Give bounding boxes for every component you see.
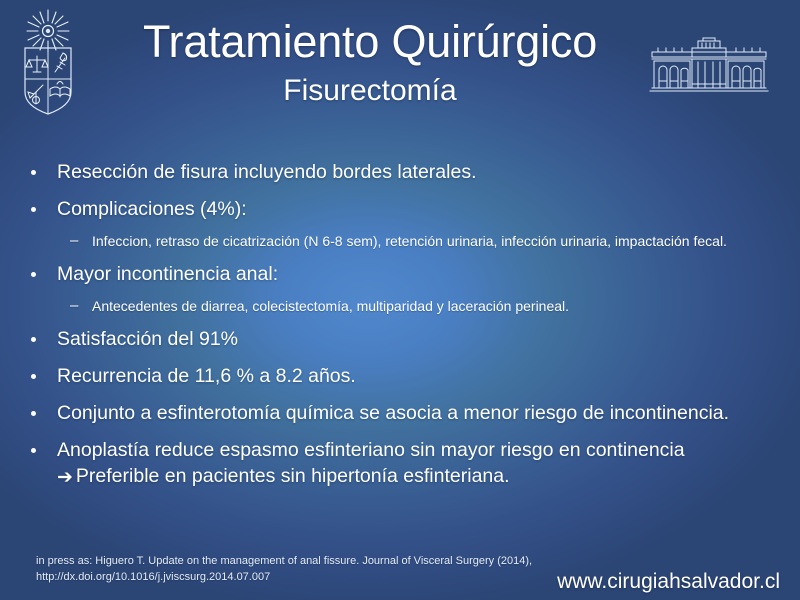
bullet-item: Recurrencia de 11,6 % a 8.2 años. bbox=[0, 364, 800, 389]
bullet-text: Complicaciones (4%): bbox=[57, 198, 247, 220]
sub-bullet-text: Infeccion, retraso de cicatrización (N 6… bbox=[92, 233, 727, 249]
slide-header: Tratamiento Quirúrgico Fisurectomía bbox=[0, 0, 800, 140]
bullet-item: Satisfacción del 91% bbox=[0, 327, 800, 352]
bullet-arrow-line: ➔Preferible en pacientes sin hipertonía … bbox=[57, 464, 760, 489]
hospital-building-facade-icon bbox=[648, 36, 770, 94]
bullet-item: Resección de fisura incluyendo bordes la… bbox=[0, 160, 800, 185]
sub-bullet-item: Antecedentes de diarrea, colecistectomía… bbox=[0, 297, 800, 316]
bullet-text: Resección de fisura incluyendo bordes la… bbox=[57, 161, 477, 183]
slide-subtitle: Fisurectomía bbox=[90, 71, 650, 111]
bullet-text: Mayor incontinencia anal: bbox=[57, 263, 278, 285]
bullet-text: Anoplastía reduce espasmo esfinteriano s… bbox=[57, 439, 685, 461]
slide-title-block: Tratamiento Quirúrgico Fisurectomía bbox=[90, 14, 650, 111]
citation-line-1: in press as: Higuero T. Update on the ma… bbox=[36, 553, 596, 569]
sub-bullet-item: Infeccion, retraso de cicatrización (N 6… bbox=[0, 232, 800, 251]
bullet-arrow-text: Preferible en pacientes sin hipertonía e… bbox=[76, 465, 510, 487]
citation-block: in press as: Higuero T. Update on the ma… bbox=[36, 553, 596, 585]
bullet-item: Conjunto a esfinterotomía química se aso… bbox=[0, 401, 800, 426]
sub-bullet-text: Antecedentes de diarrea, colecistectomía… bbox=[92, 298, 569, 314]
right-arrow-icon: ➔ bbox=[57, 465, 73, 490]
bullet-text: Recurrencia de 11,6 % a 8.2 años. bbox=[57, 365, 356, 387]
slide-title: Tratamiento Quirúrgico bbox=[90, 14, 650, 70]
university-of-chile-crest-icon bbox=[17, 8, 79, 116]
presentation-slide: Tratamiento Quirúrgico Fisurectomía bbox=[0, 0, 800, 600]
bullet-item: Anoplastía reduce espasmo esfinteriano s… bbox=[0, 438, 800, 489]
citation-doi-link[interactable]: http://dx.doi.org/10.1016/j.jviscsurg.20… bbox=[36, 569, 596, 585]
website-url[interactable]: www.cirugiahsalvador.cl bbox=[557, 569, 780, 595]
slide-body: Resección de fisura incluyendo bordes la… bbox=[0, 160, 800, 501]
bullet-text: Satisfacción del 91% bbox=[57, 328, 238, 350]
bullet-item: Complicaciones (4%): bbox=[0, 197, 800, 222]
bullet-text: Conjunto a esfinterotomía química se aso… bbox=[57, 402, 729, 424]
bullet-item: Mayor incontinencia anal: bbox=[0, 262, 800, 287]
